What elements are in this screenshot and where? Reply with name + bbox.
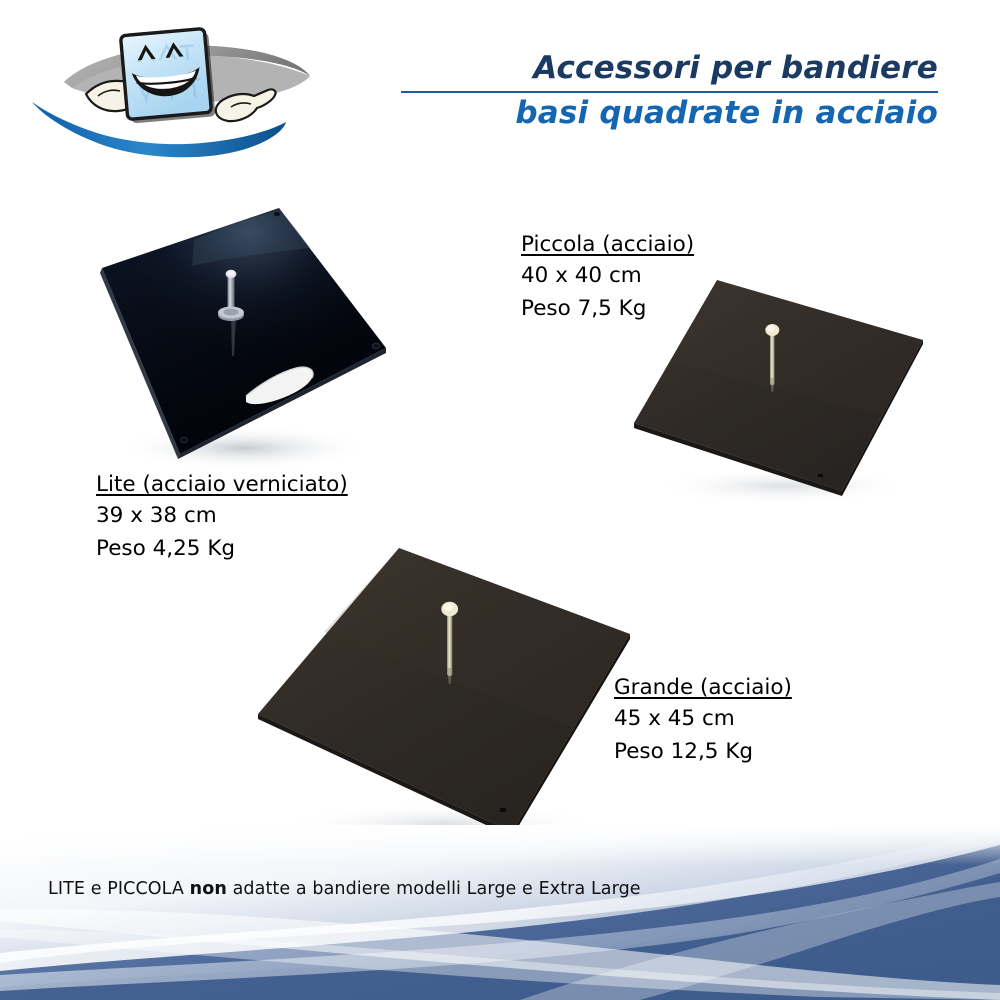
footer-wave-graphic — [0, 825, 1000, 1000]
product-label-piccola: Piccola (acciaio) 40 x 40 cm Peso 7,5 Kg — [521, 230, 694, 326]
slide-page: Accessori per bandiere basi quadrate in … — [0, 0, 1000, 1000]
product-dimensions-piccola: 40 x 40 cm — [521, 259, 694, 292]
product-weight-lite: Peso 4,25 Kg — [96, 532, 348, 565]
mascot-logo — [28, 18, 328, 168]
title-divider — [401, 91, 938, 93]
product-image-lite — [74, 196, 414, 476]
product-name-grande: Grande (acciaio) — [614, 673, 792, 702]
product-weight-piccola: Peso 7,5 Kg — [521, 292, 694, 325]
product-name-piccola: Piccola (acciaio) — [521, 230, 694, 259]
product-weight-grande: Peso 12,5 Kg — [614, 735, 792, 768]
footer-note: LITE e PICCOLA non adatte a bandiere mod… — [48, 879, 641, 899]
footer-note-suffix: adatte a bandiere modelli Large e Extra … — [227, 879, 641, 899]
page-title-line2: basi quadrate in acciaio — [378, 97, 938, 130]
product-dimensions-lite: 39 x 38 cm — [96, 499, 348, 532]
product-dimensions-grande: 45 x 45 cm — [614, 702, 792, 735]
header: Accessori per bandiere basi quadrate in … — [378, 52, 938, 129]
product-image-grande — [244, 524, 644, 844]
page-title-line1: Accessori per bandiere — [378, 52, 938, 85]
product-name-lite: Lite (acciaio verniciato) — [96, 470, 348, 499]
product-label-grande: Grande (acciaio) 45 x 45 cm Peso 12,5 Kg — [614, 673, 792, 769]
product-label-lite: Lite (acciaio verniciato) 39 x 38 cm Pes… — [96, 470, 348, 566]
footer-note-emphasis: non — [190, 879, 227, 899]
footer-note-prefix: LITE e PICCOLA — [48, 879, 190, 899]
logo-mascot-body — [120, 28, 215, 123]
